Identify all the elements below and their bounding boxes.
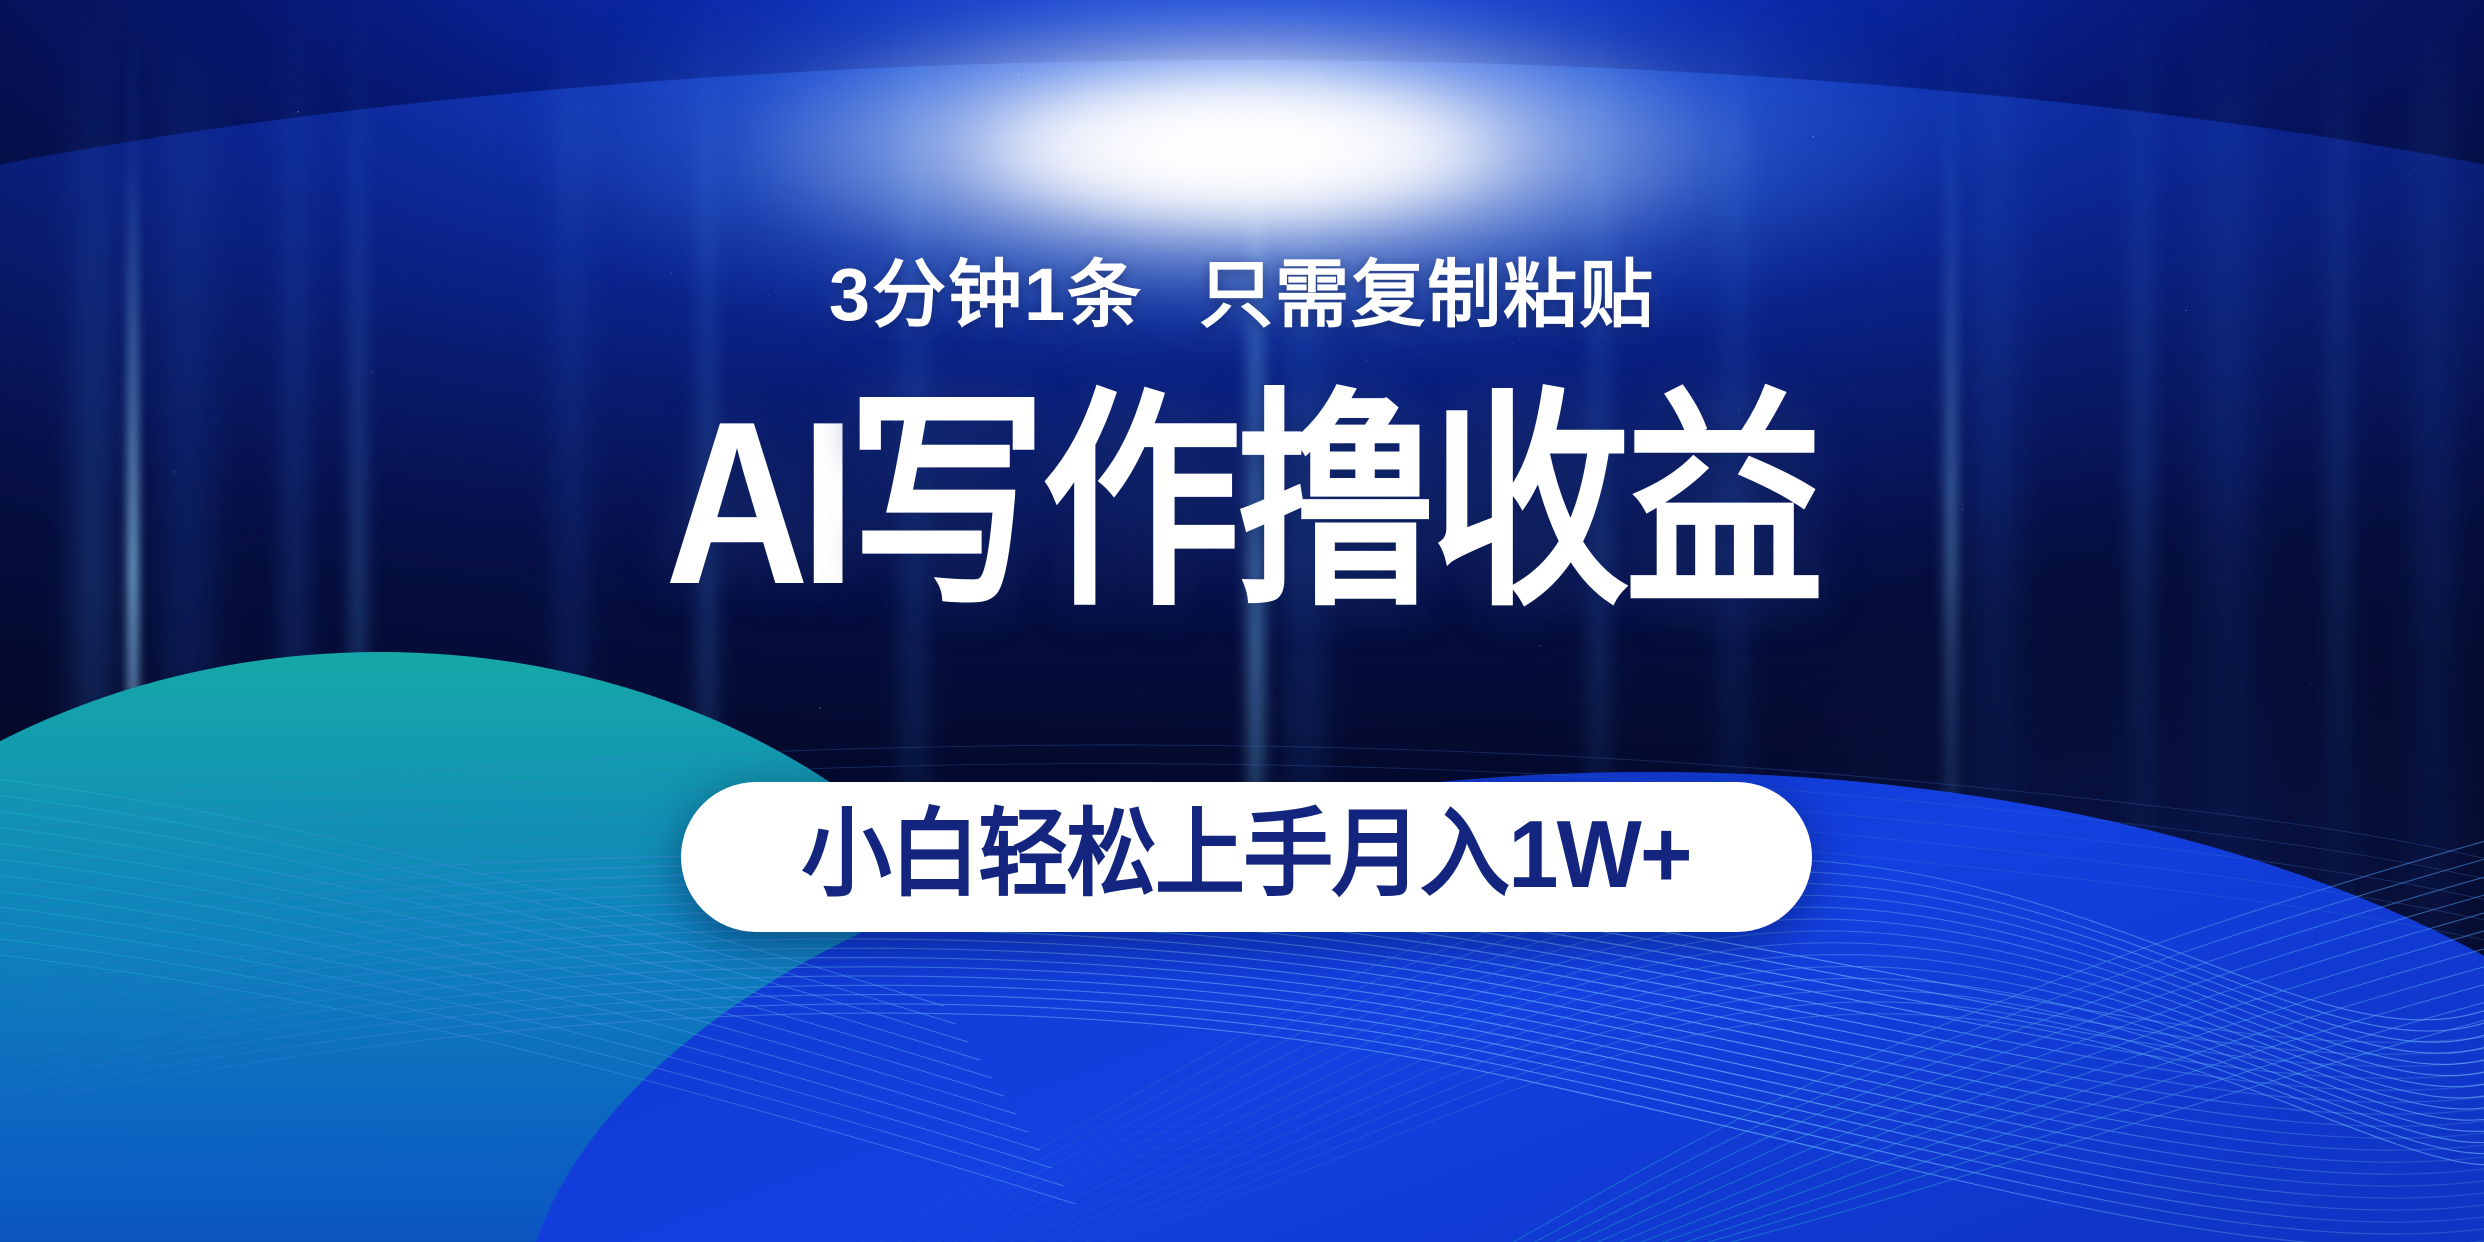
subtitle-pill-label: 小白轻松上手月入1W+: [802, 807, 1691, 903]
subtitle-pill: 小白轻松上手月入1W+: [681, 782, 1812, 932]
poster-content: 3分钟1条只需复制粘贴 AI写作撸收益 小白轻松上手月入1W+: [0, 0, 2484, 1242]
kicker-left: 3分钟1条: [829, 253, 1143, 336]
page-title: AI写作撸收益: [174, 388, 2310, 620]
kicker-right: 只需复制粘贴: [1199, 253, 1655, 336]
promo-poster: 3分钟1条只需复制粘贴 AI写作撸收益 小白轻松上手月入1W+: [0, 0, 2484, 1242]
headline-prefix: AI: [665, 374, 847, 633]
headline-rest: 写作撸收益: [847, 374, 1819, 633]
kicker-line: 3分钟1条只需复制粘贴: [0, 258, 2484, 332]
